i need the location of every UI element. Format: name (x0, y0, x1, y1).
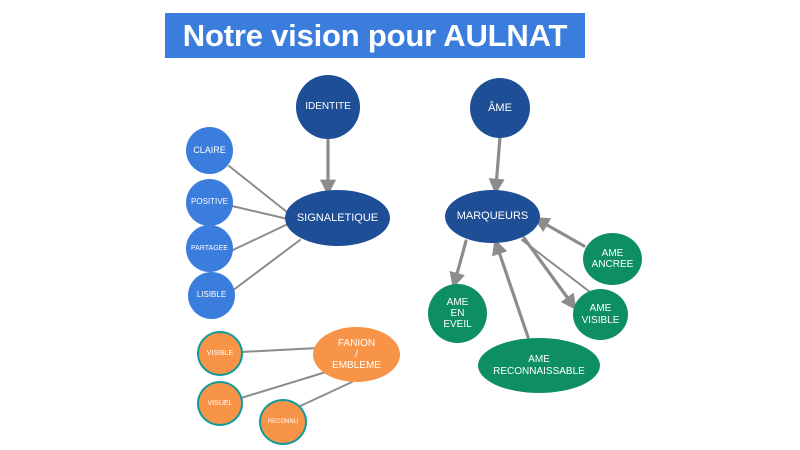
node-visible[interactable]: VISIBLE (197, 331, 243, 376)
diagram-edge (497, 246, 528, 337)
diagram-canvas: Notre vision pour AULNAT IDENTITESIGNALE… (0, 0, 800, 450)
node-label-ame_ancree: AME ANCREE (592, 248, 634, 270)
node-label-reconnu: RECONNU (268, 419, 298, 426)
node-label-marqueurs: MARQUEURS (457, 210, 529, 222)
diagram-edge (540, 221, 584, 246)
node-reconnu[interactable]: RECONNU (259, 399, 307, 445)
diagram-edge (229, 166, 292, 216)
node-lisible[interactable]: LISIBLE (188, 272, 235, 319)
node-signaletique[interactable]: SIGNALETIQUE (285, 190, 390, 246)
diagram-edges (0, 0, 800, 450)
node-label-ame_reconnaissable: AME RECONNAISSABLE (493, 354, 585, 376)
node-visuel[interactable]: VISUEL (197, 381, 243, 426)
node-fanion_embleme[interactable]: FANION / EMBLEME (313, 327, 400, 382)
node-label-ame: ÂME (488, 102, 512, 114)
diagram-edge (455, 241, 466, 281)
diagram-edge (232, 206, 288, 219)
node-partagee[interactable]: PARTAGEE (186, 225, 233, 272)
node-marqueurs[interactable]: MARQUEURS (445, 190, 540, 243)
node-ame_visible[interactable]: AME VISIBLE (573, 289, 628, 340)
node-label-lisible: LISIBLE (197, 291, 226, 300)
node-label-positive: POSITIVE (191, 198, 228, 207)
node-ame_en_eveil[interactable]: AME EN EVEIL (428, 284, 487, 343)
page-title-band: Notre vision pour AULNAT (165, 13, 585, 58)
node-label-identite: IDENTITE (305, 101, 351, 112)
node-ame_reconnaissable[interactable]: AME RECONNAISSABLE (478, 338, 600, 393)
diagram-edge (241, 348, 318, 352)
node-label-visible: VISIBLE (207, 350, 233, 358)
node-label-ame_visible: AME VISIBLE (582, 303, 620, 325)
page-title: Notre vision pour AULNAT (183, 18, 567, 54)
node-label-ame_en_eveil: AME EN EVEIL (443, 297, 471, 331)
node-label-visuel: VISUEL (208, 400, 233, 408)
node-ame[interactable]: ÂME (470, 78, 530, 138)
node-label-partagee: PARTAGEE (191, 245, 228, 253)
node-identite[interactable]: IDENTITE (296, 75, 360, 139)
diagram-edge (241, 372, 326, 398)
diagram-edge (296, 382, 352, 408)
diagram-edge (496, 137, 500, 187)
node-positive[interactable]: POSITIVE (186, 179, 233, 226)
diagram-edge (522, 240, 590, 292)
node-label-signaletique: SIGNALETIQUE (297, 212, 378, 224)
node-ame_ancree[interactable]: AME ANCREE (583, 233, 642, 285)
diagram-edge (232, 240, 300, 291)
node-label-fanion_embleme: FANION / EMBLEME (332, 338, 381, 372)
diagram-edge (233, 223, 290, 250)
node-claire[interactable]: CLAIRE (186, 127, 233, 174)
diagram-edge (524, 238, 572, 304)
node-label-claire: CLAIRE (193, 145, 226, 155)
